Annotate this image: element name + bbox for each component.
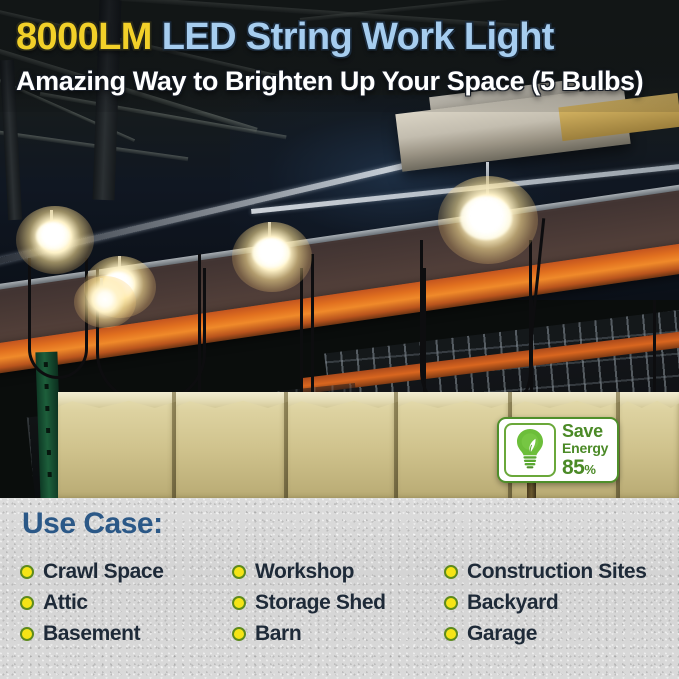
use-case-label: Barn — [255, 623, 301, 644]
use-case-label: Crawl Space — [43, 561, 164, 582]
led-bulb-core — [252, 238, 290, 268]
use-case-column-2: Workshop Storage Shed Barn — [232, 556, 444, 649]
list-item: Construction Sites — [444, 556, 668, 587]
list-item: Workshop — [232, 556, 444, 587]
use-case-label: Backyard — [467, 592, 558, 613]
list-item: Barn — [232, 618, 444, 649]
bullet-dot-icon — [444, 627, 458, 641]
use-case-panel: Use Case: Crawl Space Attic Basement — [0, 498, 679, 679]
use-case-label: Construction Sites — [467, 561, 646, 582]
use-case-label: Garage — [467, 623, 537, 644]
led-bulb-glow — [74, 276, 136, 328]
badge-percent: 85% — [562, 457, 608, 478]
header-banner: 8000LM LED String Work Light Amazing Way… — [0, 0, 679, 112]
badge-text-block: Save Energy 85% — [562, 422, 608, 478]
light-string-cord — [28, 258, 88, 379]
title-product: LED String Work Light — [152, 16, 554, 58]
list-item: Basement — [20, 618, 232, 649]
list-item: Storage Shed — [232, 587, 444, 618]
wrapped-pallet — [620, 392, 679, 498]
badge-percent-sign: % — [584, 462, 595, 477]
bullet-dot-icon — [20, 565, 34, 579]
wrapped-pallet — [58, 392, 176, 498]
bullet-dot-icon — [20, 627, 34, 641]
use-case-columns: Crawl Space Attic Basement Workshop — [20, 556, 668, 649]
page-title: 8000LM LED String Work Light — [16, 18, 554, 56]
bullet-dot-icon — [20, 596, 34, 610]
page-subtitle: Amazing Way to Brighten Up Your Space (5… — [16, 68, 643, 95]
led-bulb-core — [460, 196, 512, 240]
bullet-dot-icon — [444, 565, 458, 579]
list-item: Attic — [20, 587, 232, 618]
use-case-title: Use Case: — [22, 509, 163, 539]
list-item: Backyard — [444, 587, 668, 618]
wrapped-pallet — [176, 392, 288, 498]
product-listing-image: 8000LM LED String Work Light Amazing Way… — [0, 0, 679, 679]
badge-post — [527, 481, 536, 498]
energy-saving-bulb-leaf-icon — [512, 427, 548, 474]
bullet-dot-icon — [232, 596, 246, 610]
badge-icon-frame — [504, 423, 556, 477]
title-lumens: 8000LM — [16, 16, 152, 58]
use-case-column-1: Crawl Space Attic Basement — [20, 556, 232, 649]
bullet-dot-icon — [232, 565, 246, 579]
led-bulb-core — [36, 222, 70, 250]
use-case-label: Attic — [43, 592, 88, 613]
badge-line-energy: Energy — [562, 441, 608, 455]
use-case-label: Basement — [43, 623, 140, 644]
use-case-label: Workshop — [255, 561, 354, 582]
use-case-column-3: Construction Sites Backyard Garage — [444, 556, 668, 649]
list-item: Garage — [444, 618, 668, 649]
wrapped-pallet — [288, 392, 398, 498]
bullet-dot-icon — [444, 596, 458, 610]
bullet-dot-icon — [232, 627, 246, 641]
use-case-label: Storage Shed — [255, 592, 386, 613]
list-item: Crawl Space — [20, 556, 232, 587]
product-photo: 8000LM LED String Work Light Amazing Way… — [0, 0, 679, 498]
save-energy-badge: Save Energy 85% — [497, 417, 619, 483]
badge-percent-value: 85 — [562, 456, 584, 479]
wrapped-pallet — [398, 392, 512, 498]
badge-line-save: Save — [562, 422, 608, 440]
